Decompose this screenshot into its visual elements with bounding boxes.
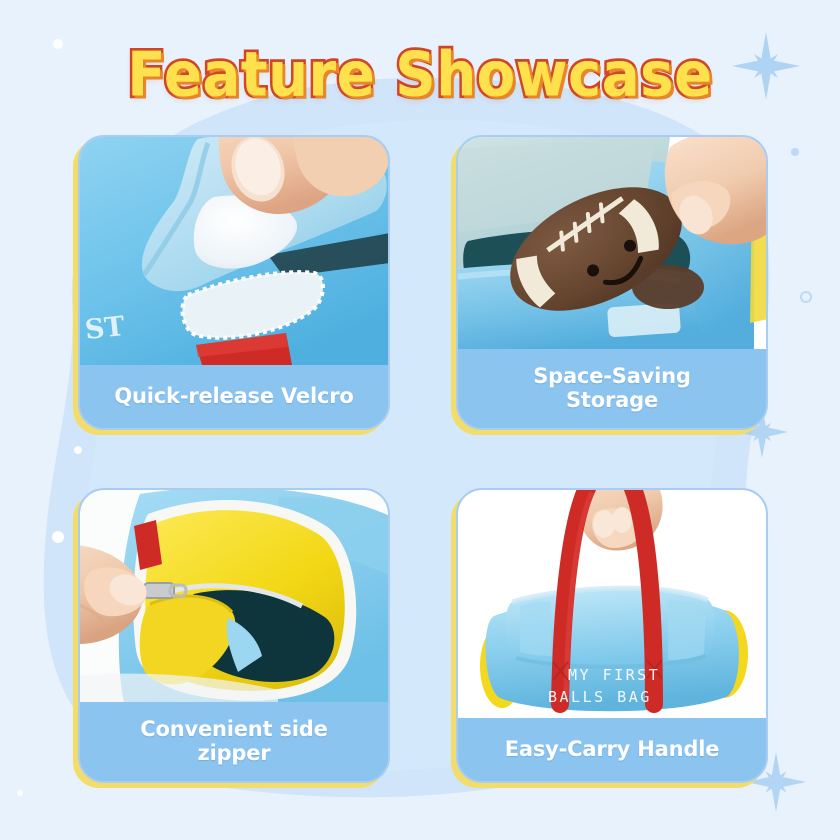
caption-label-velcro: Quick-release Velcro: [114, 385, 353, 409]
caption-band-zipper: Convenient side zipper: [80, 702, 388, 781]
page-title: Feature Showcase: [127, 38, 712, 110]
feature-card-easy-carry-handle[interactable]: MY FIRST BALLS BAG Easy-Carry Handle: [456, 488, 768, 783]
dot-left-lower: [52, 531, 64, 543]
side-zipper-photo: [80, 490, 388, 702]
svg-text:ST: ST: [83, 311, 126, 346]
velcro-closeup-photo: ST: [80, 137, 388, 365]
dot-upper-right: [791, 148, 799, 156]
svg-text:MY FIRST: MY FIRST: [568, 666, 660, 684]
caption-label-handle: Easy-Carry Handle: [505, 738, 720, 762]
feature-card-quick-release-velcro[interactable]: ST Quick-release Velcro: [78, 135, 390, 430]
dot-bottom-left: [17, 790, 23, 796]
caption-label-zipper: Convenient side zipper: [140, 718, 327, 765]
feature-card-convenient-side-zipper[interactable]: Convenient side zipper: [78, 488, 390, 783]
feature-card-grid: ST Quick-release Velcro: [78, 135, 768, 795]
carry-handle-photo: MY FIRST BALLS BAG: [458, 490, 766, 718]
svg-text:BALLS BAG: BALLS BAG: [548, 688, 652, 706]
caption-band-velcro: Quick-release Velcro: [80, 365, 388, 428]
feature-card-space-saving-storage[interactable]: Space-Saving Storage: [456, 135, 768, 430]
caption-label-storage: Space-Saving Storage: [533, 365, 691, 412]
caption-band-handle: Easy-Carry Handle: [458, 718, 766, 781]
football-storage-photo: [458, 137, 766, 349]
caption-band-storage: Space-Saving Storage: [458, 349, 766, 428]
page-title-container: Feature Showcase: [0, 34, 840, 114]
